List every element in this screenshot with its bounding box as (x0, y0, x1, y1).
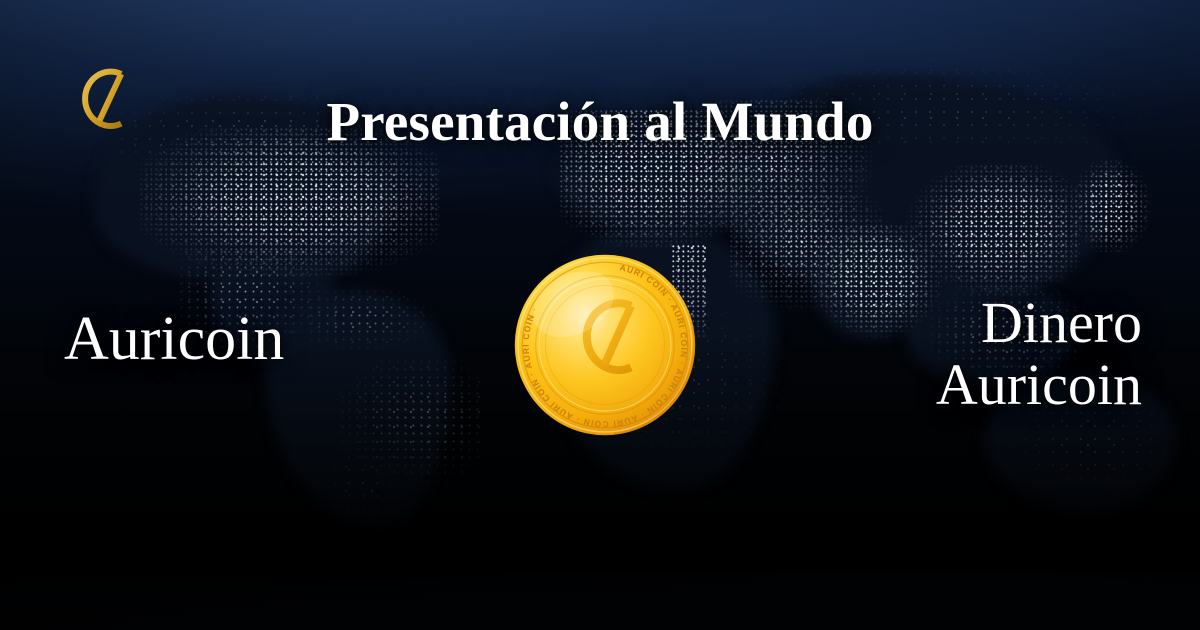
poster-content: Presentación al Mundo Auricoin Dinero Au… (0, 0, 1200, 630)
label-dinero-auricoin-right: Dinero Auricoin (936, 292, 1142, 416)
page-title: Presentación al Mundo (0, 93, 1200, 151)
auricoin-gold-coin-icon: AURI COIN · AURI COIN · AURI COIN · AURI… (512, 252, 698, 438)
label-auricoin-left: Auricoin (64, 306, 284, 373)
label-auricoin-line: Auricoin (936, 354, 1142, 416)
auricoin-coin[interactable]: AURI COIN · AURI COIN · AURI COIN · AURI… (512, 252, 698, 438)
poster-canvas: Presentación al Mundo Auricoin Dinero Au… (0, 0, 1200, 630)
label-dinero-line: Dinero (936, 292, 1142, 354)
